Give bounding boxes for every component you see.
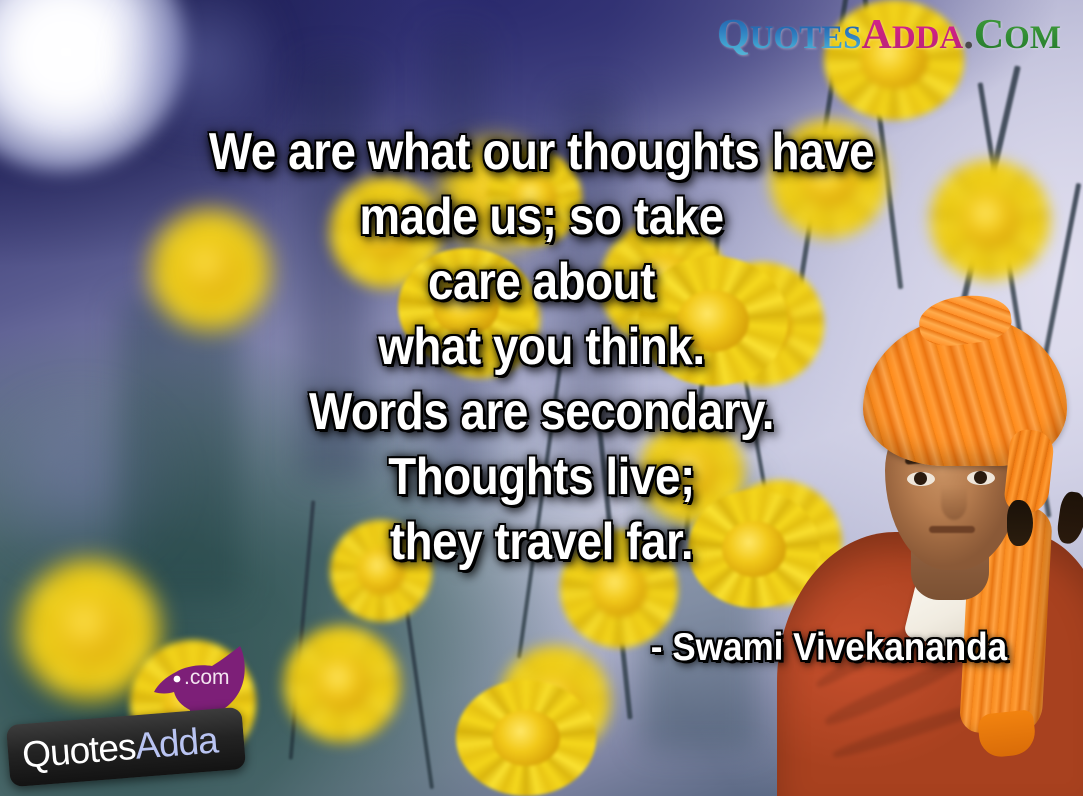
brand-part-dda: DDA <box>892 22 964 55</box>
brand-part-om: OM <box>1004 22 1061 55</box>
daisy-flower-icon <box>456 680 596 796</box>
quote-image-canvas: QUOTESADDA.COM We are what our thoughts … <box>0 0 1083 796</box>
quote-attribution: - Swami Vivekananda <box>651 625 1007 671</box>
brand-part-q: Q <box>717 14 750 56</box>
daisy-flower-icon <box>486 150 582 246</box>
turban-dark-fold <box>1007 500 1033 546</box>
hair <box>1056 490 1083 545</box>
mouth <box>929 526 975 533</box>
daisy-flower-icon <box>770 120 888 238</box>
brand-part-c: C <box>974 14 1004 56</box>
daisy-flower-icon <box>638 256 788 386</box>
daisy-flower-icon <box>284 626 400 742</box>
watermark-logo[interactable]: .com QuotesAdda <box>8 638 258 788</box>
nose <box>941 486 967 520</box>
brand-logo[interactable]: QUOTESADDA.COM <box>717 14 1061 56</box>
watermark-word-adda: Adda <box>134 719 219 766</box>
watermark-tld: .com <box>184 667 230 688</box>
portrait-swami-vivekananda <box>793 276 1083 796</box>
daisy-flower-icon <box>930 160 1050 280</box>
pupil <box>974 471 987 484</box>
daisy-flower-icon <box>330 520 432 622</box>
brand-part-dot: . <box>963 14 974 56</box>
pupil <box>914 472 927 485</box>
daisy-flower-icon <box>398 248 534 366</box>
daisy-flower-icon <box>150 210 270 330</box>
brand-part-uotes: UOTES <box>750 22 862 55</box>
brand-part-a: A <box>861 14 891 56</box>
